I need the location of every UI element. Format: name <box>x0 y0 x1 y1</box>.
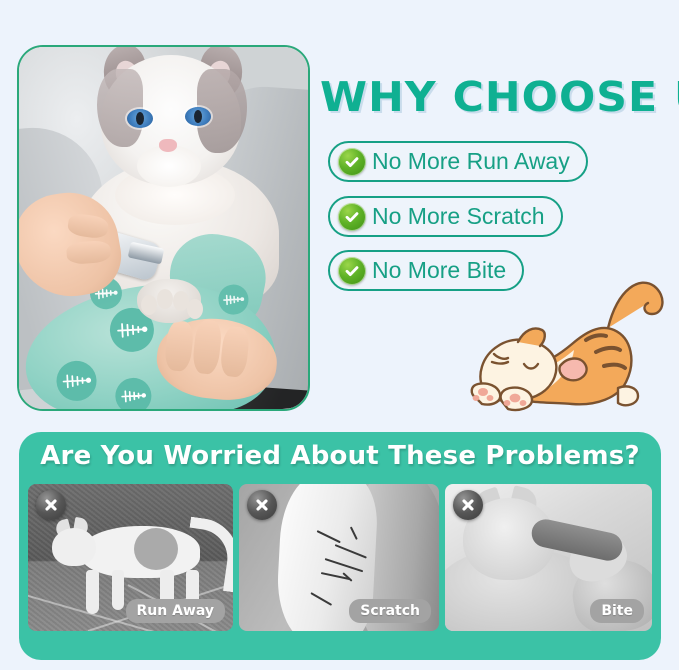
cat-face-shading-left <box>97 69 143 147</box>
problems-section: Are You Worried About These Problems? <box>19 432 661 660</box>
problem-cards-row: Run Away Scratch <box>28 484 652 631</box>
fishbone-icon <box>120 388 147 403</box>
x-circle-icon <box>453 490 483 520</box>
fishbone-icon <box>61 372 92 390</box>
problem-tag: Run Away <box>126 599 226 623</box>
problems-title: Are You Worried About These Problems? <box>19 441 661 471</box>
benefits-section: WHY CHOOSE US? No More Run Away No More … <box>0 0 679 425</box>
benefit-pill-run-away: No More Run Away <box>328 141 588 182</box>
benefit-pill-scratch: No More Scratch <box>328 196 563 237</box>
problem-card-bite: Bite <box>445 484 652 631</box>
cat-paw <box>137 279 201 323</box>
x-circle-icon <box>247 490 277 520</box>
check-circle-icon <box>338 148 366 176</box>
check-circle-icon <box>338 257 366 285</box>
stretching-orange-cat-illustration <box>468 270 679 420</box>
check-circle-icon <box>338 203 366 231</box>
cat-left-eye <box>127 109 153 128</box>
problem-card-scratch: Scratch <box>239 484 439 631</box>
problem-tag: Bite <box>590 599 644 623</box>
benefits-headline: WHY CHOOSE US? <box>320 74 679 122</box>
fishbone-icon <box>116 321 149 340</box>
fishbone-icon <box>222 293 245 306</box>
cat-nose <box>159 139 177 152</box>
problem-tag: Scratch <box>349 599 431 623</box>
fishbone-dot <box>114 377 152 411</box>
fishbone-dot <box>218 284 250 316</box>
problem-card-run-away: Run Away <box>28 484 233 631</box>
cat-right-eye <box>185 107 211 126</box>
fishbone-dot <box>55 360 97 402</box>
x-circle-icon <box>36 490 66 520</box>
benefit-label: No More Scratch <box>372 203 545 230</box>
benefit-label: No More Run Away <box>372 148 570 175</box>
hero-product-photo <box>17 45 310 411</box>
